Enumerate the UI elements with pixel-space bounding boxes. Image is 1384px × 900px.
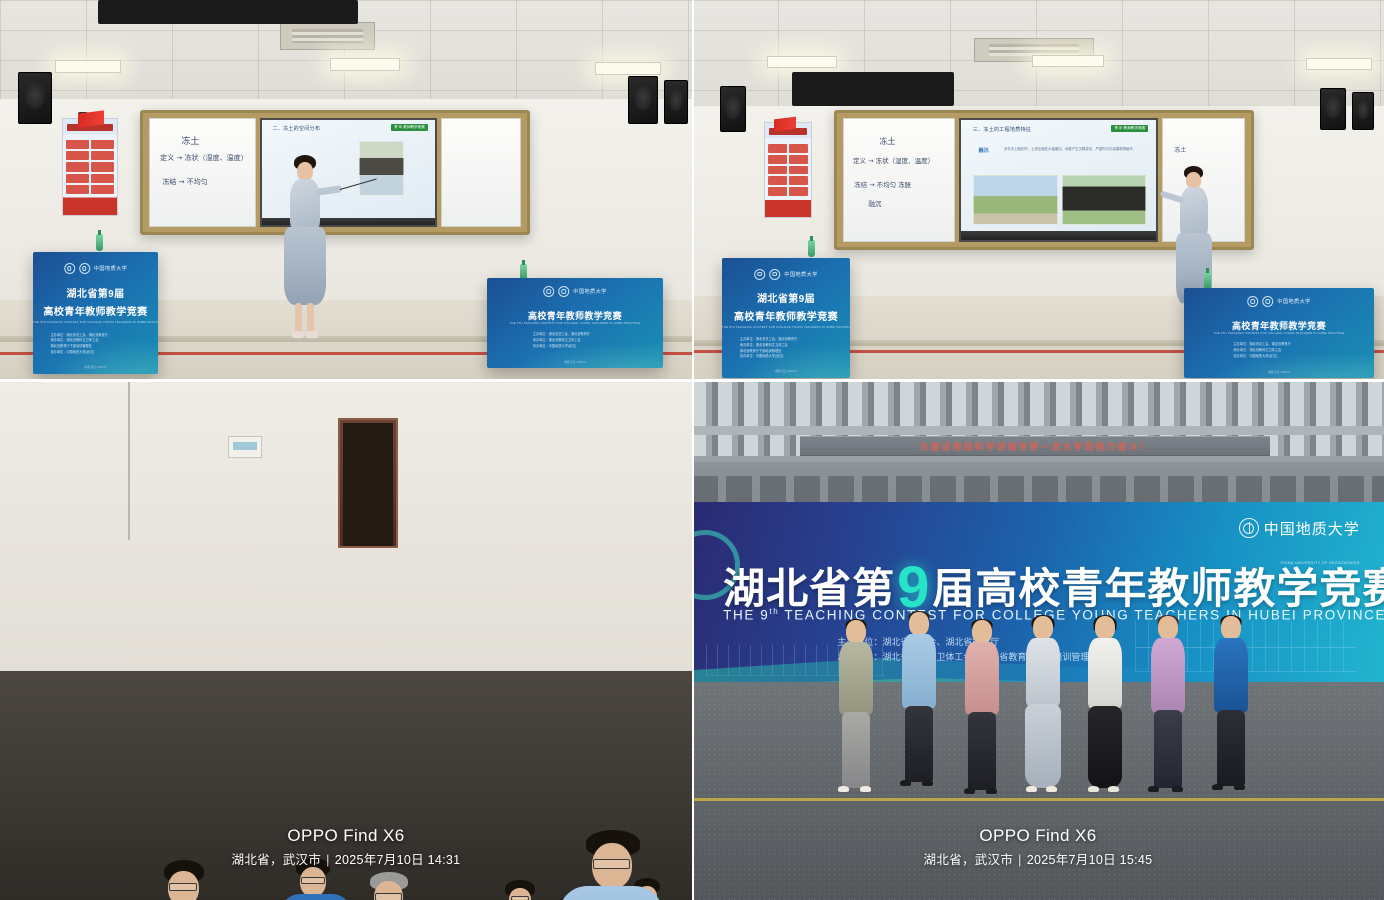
- university-seal-icon: [64, 263, 75, 274]
- podium-english: THE 9TH TEACHING CONTEST FOR COLLEGE YOU…: [487, 321, 663, 325]
- podium-english: THE 9TH TEACHING CONTEST FOR COLLEGE YOU…: [1184, 331, 1374, 335]
- slide-title: 二、冻土的空间分布: [272, 125, 320, 132]
- meeting-room-scene: OPPO Find X6 湖北省，武汉市|2025年7月10日 14:31: [0, 380, 692, 900]
- university-seal-icon: [1247, 296, 1258, 307]
- podium-title-line1: 高校青年教师教学竞赛: [487, 309, 663, 322]
- podium-date: 中国·武汉 2025.07: [1184, 370, 1374, 374]
- podium-university-name: 中国地质大学: [784, 271, 818, 278]
- university-seal-icon: [79, 263, 90, 274]
- banner-university-name: 中国地质大学: [1264, 518, 1360, 539]
- podium-left: 中国地质大学 湖北省第9届 高校青年教师教学竞赛 THE 9TH TEACHIN…: [33, 252, 158, 374]
- photo-top-left-classroom-teacher-pointing[interactable]: 冻土 定义 → 冻状（湿度、温度） 冻结 → 不均匀 二、冻土的空间分布 青 年…: [0, 0, 692, 380]
- ceiling-light: [767, 56, 837, 68]
- organizer-line: 协办单位：中国地质大学(武汉): [1233, 354, 1290, 360]
- group-person: [1144, 616, 1192, 812]
- photo-bottom-left-audience-judges[interactable]: OPPO Find X6 湖北省，武汉市|2025年7月10日 14:31: [0, 380, 692, 900]
- speaker-right: [628, 76, 658, 124]
- podium-title-line2: 高校青年教师教学竞赛: [33, 303, 158, 318]
- grid-gutter-horizontal: [0, 379, 1384, 382]
- handwriting-note: 冻结 → 不均匀: [162, 177, 207, 188]
- group-person-center-left: [1020, 616, 1066, 814]
- ceiling-light: [1306, 58, 1372, 70]
- group-person: [896, 612, 942, 808]
- podium-logos: 中国地质大学: [754, 269, 818, 280]
- whiteboard-right: [441, 118, 522, 227]
- handwriting-note: 定义 → 冻状（湿度、温度）: [160, 153, 247, 164]
- outdoor-scene: 为建设地球科学领域世界一流大学而努力奋斗！ 湖北省第9届高校青年教师教学竞赛 T…: [692, 380, 1384, 900]
- podium-title-line2: 高校青年教师教学竞赛: [722, 308, 850, 323]
- podium-logos: 中国地质大学: [543, 286, 607, 297]
- slide-badge: 青 年 教师教学竞赛: [391, 124, 428, 131]
- podium-title-line1: 湖北省第9届: [722, 290, 850, 305]
- overhead-banner-text: 为建设地球科学领域世界一流大学而努力奋斗！: [919, 440, 1150, 453]
- university-seal-icon: [1239, 518, 1259, 538]
- group-person: [1208, 616, 1254, 810]
- ceiling-light: [55, 60, 121, 73]
- podium-logos: 中国地质大学: [1247, 296, 1311, 307]
- organizer-line: 协办单位：中国地质大学(武汉): [51, 350, 108, 356]
- slide-image-left: [973, 175, 1059, 225]
- speaker-left: [18, 72, 52, 124]
- slide-title: 三、冻土的工程地质特征: [973, 126, 1031, 133]
- whiteboard-frame: 冻土 定义 → 冻状（湿度、温度） 冻结 → 不均匀 二、冻土的空间分布 青 年…: [140, 110, 530, 235]
- banner-english-sup: th: [769, 607, 779, 616]
- podium-university-name: 中国地质大学: [1277, 298, 1311, 305]
- ac-vent: [280, 22, 375, 50]
- projector-housing: [792, 72, 954, 106]
- handwriting-note: 冻土: [1174, 146, 1186, 155]
- speaker-right: [1320, 88, 1346, 130]
- slide-image: [359, 141, 404, 196]
- attendee-green-polo: [140, 860, 236, 900]
- podium-organizers: 主办单位：湖北省总工会、湖北省教育厅 承办单位：湖北省教科文卫体工会 协办单位：…: [1233, 342, 1290, 359]
- speaker-left: [720, 86, 746, 132]
- attendee-purple-shirt: [348, 872, 440, 900]
- handwriting-note: 融沉: [868, 199, 881, 209]
- handwriting-note: 定义 → 冻状（湿度、温度）: [853, 156, 934, 166]
- eyeglasses-icon: [375, 893, 402, 900]
- podium-right: 中国地质大学 高校青年教师教学竞赛 THE 9TH TEACHING CONTE…: [1184, 288, 1374, 378]
- podium-university-name: 中国地质大学: [573, 288, 607, 295]
- overhead-red-banner: 为建设地球科学领域世界一流大学而努力奋斗！: [800, 436, 1270, 456]
- podium-english: THE 9TH TEACHING CONTEST FOR COLLEGE YOU…: [722, 325, 850, 329]
- organizer-line: 主办单位：湖北省总工会、湖北省教育厅: [1233, 342, 1290, 348]
- ceiling-light: [330, 58, 400, 71]
- spray-bottle: [96, 234, 103, 251]
- podium-title-line1: 高校青年教师教学竞赛: [1184, 319, 1374, 332]
- podium-organizers: 主办单位：湖北省总工会、湖北省教育厅 承办单位：湖北省教科文卫体工会 湖北省教育…: [51, 333, 108, 356]
- slide-subhead: 融沉: [979, 147, 989, 154]
- podium-date: 中国·武汉 2025.07: [487, 360, 663, 364]
- wall-poster: [764, 122, 812, 218]
- classroom-scene: 冻土 定义 → 冻状（湿度、温度） 冻结 → 不均匀 冻胀 融沉 三、冻土的工程…: [692, 0, 1384, 380]
- eyeglasses-icon: [169, 883, 197, 891]
- handwriting-note: 冻结 → 不均匀 冻胀: [854, 180, 911, 190]
- university-seal-icon: [543, 286, 554, 297]
- banner-university-logo: 中国地质大学: [1239, 518, 1360, 539]
- podium-left: 中国地质大学 湖北省第9届 高校青年教师教学竞赛 THE 9TH TEACHIN…: [722, 258, 850, 378]
- organizer-line: 协办单位：中国地质大学(武汉): [740, 354, 797, 360]
- podium-english: THE 9TH TEACHING CONTEST FOR COLLEGE YOU…: [33, 320, 158, 324]
- group-person: [834, 620, 878, 810]
- ceiling-light: [595, 62, 661, 75]
- group-person: [960, 620, 1004, 812]
- spray-bottle: [808, 240, 815, 257]
- attendee-light-blue-shirt: [556, 830, 674, 900]
- podium-organizers: 主办单位：湖北省总工会、湖北省教育厅 承办单位：湖北省教科文卫体工会 湖北省教育…: [740, 337, 797, 360]
- slide-image-right: [1062, 175, 1146, 225]
- ceiling-light: [1032, 55, 1104, 67]
- university-seal-icon: [1262, 296, 1273, 307]
- facade-windows: [692, 476, 1384, 502]
- podium-university-name: 中国地质大学: [94, 265, 128, 272]
- photo-top-right-classroom-teacher-writing[interactable]: 冻土 定义 → 冻状（湿度、温度） 冻结 → 不均匀 冻胀 融沉 三、冻土的工程…: [692, 0, 1384, 380]
- handwriting-note: 冻土: [181, 136, 199, 150]
- wall-control-panel[interactable]: [228, 436, 262, 458]
- door[interactable]: [338, 418, 398, 548]
- photo-bottom-right-group-photo[interactable]: 为建设地球科学领域世界一流大学而努力奋斗！ 湖北省第9届高校青年教师教学竞赛 T…: [692, 380, 1384, 900]
- handwriting-note: 冻土: [879, 136, 895, 148]
- projector-housing: [98, 0, 358, 24]
- wall-poster: [62, 118, 118, 216]
- whiteboard-left: 冻土 定义 → 冻状（湿度、温度） 冻结 → 不均匀 冻胀 融沉: [843, 118, 955, 241]
- eyeglasses-icon: [593, 859, 630, 869]
- podium-title-line1: 湖北省第9届: [33, 285, 158, 300]
- eyeglasses-icon: [301, 877, 325, 884]
- teacher-figure: [278, 155, 334, 345]
- organizer-line: 协办单位：中国地质大学(武汉): [533, 344, 590, 350]
- podium-date: 中国·武汉 2025.07: [33, 365, 158, 369]
- whiteboard-left: 冻土 定义 → 冻状（湿度、温度） 冻结 → 不均匀: [149, 118, 257, 227]
- classroom-scene: 冻土 定义 → 冻状（湿度、温度） 冻结 → 不均匀 二、冻土的空间分布 青 年…: [0, 0, 692, 380]
- banner-english-pre: THE 9: [723, 607, 769, 622]
- cornice: [692, 426, 1384, 435]
- university-seal-icon: [754, 269, 765, 280]
- group-person-center-right: [1082, 616, 1128, 814]
- podium-logos: 中国地质大学: [64, 263, 128, 274]
- speaker-far-right: [1352, 92, 1374, 130]
- podium-right: 中国地质大学 高校青年教师教学竞赛 THE 9TH TEACHING CONTE…: [487, 278, 663, 368]
- university-seal-icon: [769, 269, 780, 280]
- slide-badge: 青 年 教师教学竞赛: [1111, 125, 1148, 132]
- podium-organizers: 主办单位：湖北省总工会、湖北省教育厅 承办单位：湖北省教科文卫体工会 协办单位：…: [533, 332, 590, 349]
- slide-body: 多年冻土融化时，土体压缩性大幅增加，地基产生沉降变形，严重时可引起建筑物破坏。: [1004, 147, 1146, 152]
- spray-bottle: [1204, 272, 1211, 289]
- banner-university-english: CHINA UNIVERSITY OF GEOSCIENCES: [1281, 561, 1360, 565]
- photo-collage: 冻土 定义 → 冻状（湿度、温度） 冻结 → 不均匀 二、冻土的空间分布 青 年…: [0, 0, 1384, 900]
- grid-gutter-vertical: [692, 0, 694, 900]
- podium-date: 中国·武汉 2025.07: [722, 369, 850, 373]
- university-seal-icon: [558, 286, 569, 297]
- organizer-line: 主办单位：湖北省总工会、湖北省教育厅: [533, 332, 590, 338]
- projection-screen[interactable]: 三、冻土的工程地质特征 青 年 教师教学竞赛 融沉 多年冻土融化时，土体压缩性大…: [959, 118, 1158, 241]
- speaker-far-right: [664, 80, 688, 124]
- hanging-cable: [128, 380, 130, 540]
